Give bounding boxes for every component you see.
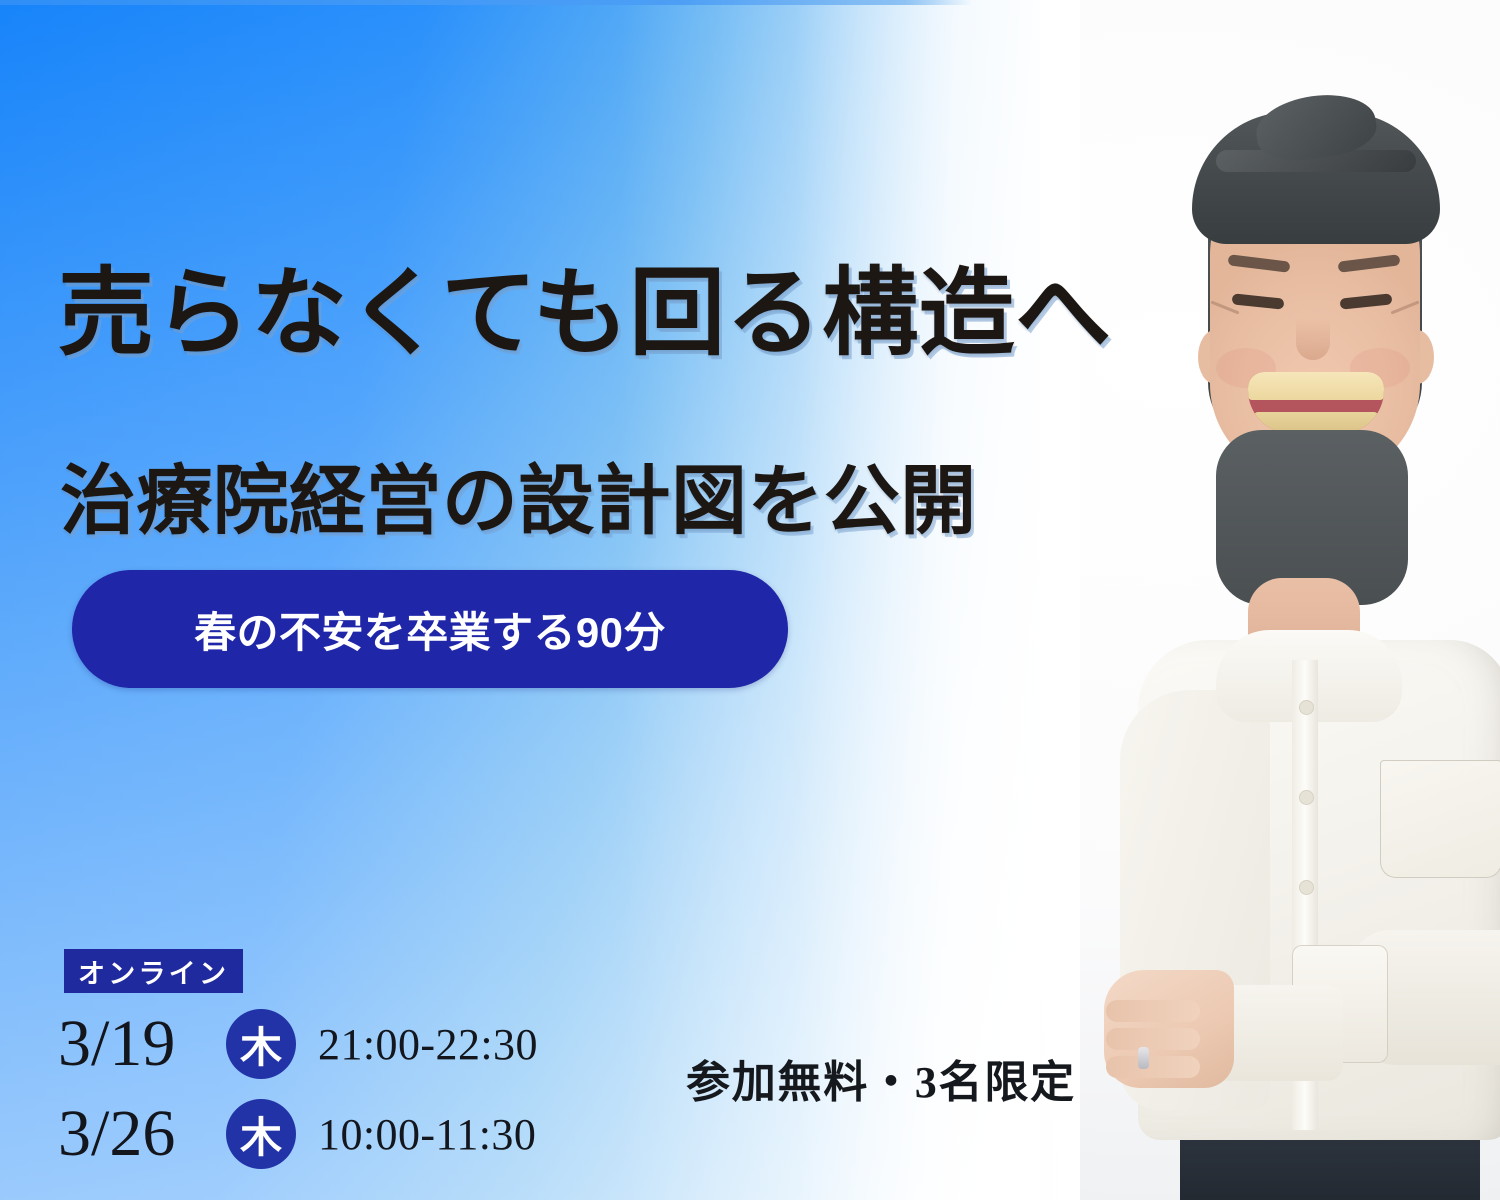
schedule-date: 3/19 — [58, 1011, 226, 1077]
schedule-time: 21:00-22:30 — [318, 1019, 538, 1070]
portrait-finger — [1106, 1056, 1200, 1078]
portrait-finger — [1106, 1028, 1200, 1050]
schedule-row: 3/19 木 21:00-22:30 — [58, 1005, 538, 1083]
pricing-capacity-note: 参加無料・3名限定 — [686, 1046, 1076, 1110]
portrait-shirt-button — [1299, 880, 1314, 895]
presenter-portrait-photo — [1020, 0, 1500, 1200]
page-title: 売らなくても回る構造へ — [58, 260, 1112, 368]
portrait-finger — [1106, 1000, 1200, 1022]
schedule-day-of-week-badge: 木 — [226, 1009, 296, 1079]
portrait-smiling-mouth — [1248, 372, 1384, 434]
top-accent-rule — [0, 0, 972, 5]
portrait-teeth-lower — [1254, 412, 1378, 432]
online-format-badge: オンライン — [64, 949, 243, 993]
seminar-banner: 売らなくても回る構造へ 治療院経営の設計図を公開 春の不安を卒業する90分 オン… — [0, 0, 1500, 1200]
cta-button-label: 春の不安を卒業する90分 — [194, 599, 666, 660]
schedule-date: 3/26 — [58, 1101, 226, 1167]
schedule-day-of-week-badge: 木 — [226, 1099, 296, 1169]
portrait-shirt-pocket — [1380, 760, 1500, 878]
portrait-nose — [1296, 318, 1330, 360]
page-subtitle: 治療院経営の設計図を公開 — [60, 459, 977, 544]
cta-button[interactable]: 春の不安を卒業する90分 — [72, 570, 788, 688]
portrait-shirt-button — [1299, 700, 1314, 715]
schedule-row: 3/26 木 10:00-11:30 — [58, 1095, 538, 1173]
schedule-time: 10:00-11:30 — [318, 1109, 536, 1160]
portrait-shirt-button — [1299, 790, 1314, 805]
portrait-ring — [1138, 1047, 1149, 1069]
schedule-list: 3/19 木 21:00-22:30 3/26 木 10:00-11:30 — [58, 1005, 538, 1173]
online-format-badge-label: オンライン — [78, 952, 229, 991]
portrait-teeth-upper — [1248, 372, 1384, 400]
